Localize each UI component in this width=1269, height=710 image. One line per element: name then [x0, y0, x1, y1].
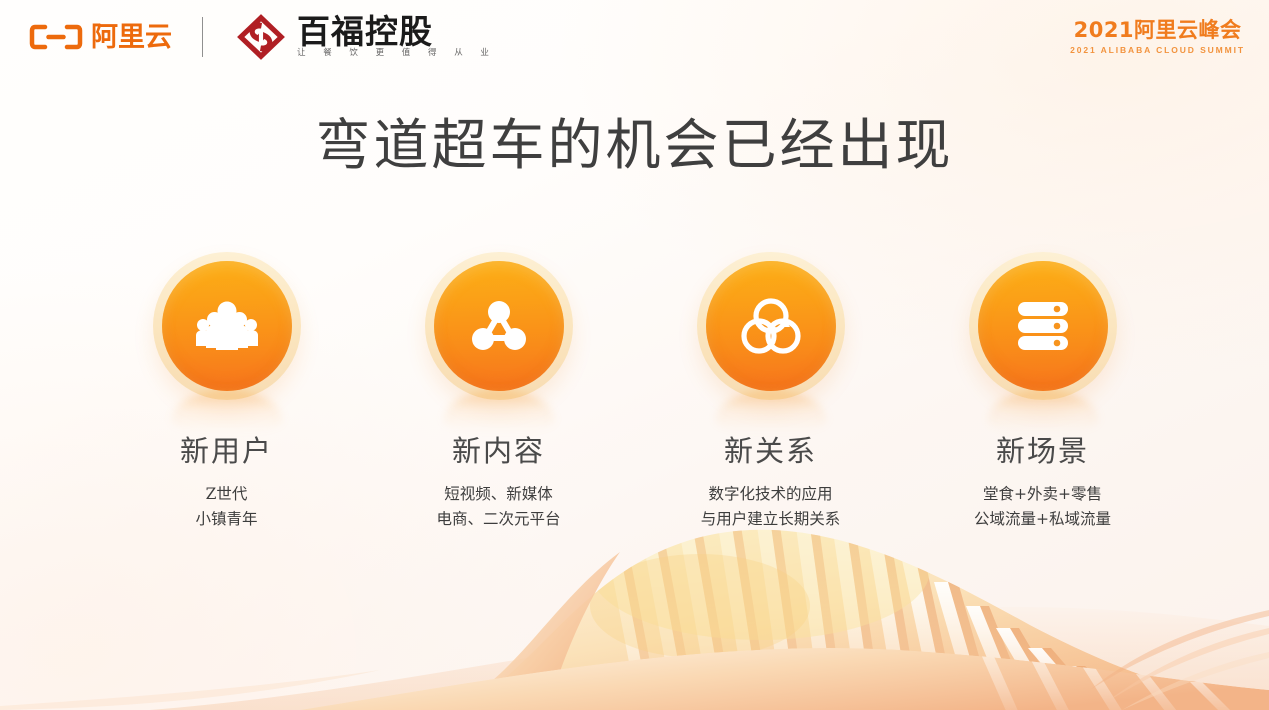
page-title: 弯道超车的机会已经出现 — [0, 114, 1269, 177]
badge-circle — [978, 261, 1108, 391]
pillar-description: 短视频、新媒体 电商、二次元平台 — [436, 482, 560, 532]
partner-logo: 百福控股 让 餐 饮 更 值 得 从 业 — [235, 13, 496, 61]
pillar-new-scenario: 新场景 堂食+外卖+零售 公域流量+私域流量 — [938, 252, 1148, 532]
pillar-desc-line: 小镇青年 — [195, 507, 257, 532]
pillar-new-relationship: 新关系 数字化技术的应用 与用户建立长期关系 — [666, 252, 876, 532]
share-network-icon — [470, 300, 528, 352]
logo-group: 阿里云 百福控股 让 餐 — [28, 13, 496, 61]
partner-name: 百福控股 — [297, 15, 496, 48]
pillar-desc-line: 短视频、新媒体 — [436, 482, 560, 507]
interlocking-circles-cycle-icon — [740, 297, 802, 355]
pillar-new-content: 新内容 短视频、新媒体 电商、二次元平台 — [394, 252, 604, 532]
partner-wordmark-block: 百福控股 让 餐 饮 更 值 得 从 业 — [297, 15, 496, 58]
server-stack-icon — [1014, 299, 1072, 353]
pillar-description: 堂食+外卖+零售 公域流量+私域流量 — [974, 482, 1111, 532]
badge-circle — [162, 261, 292, 391]
logo-divider — [202, 17, 203, 57]
pillar-description: Z世代 小镇青年 — [195, 482, 257, 532]
badge-wrap — [969, 252, 1117, 400]
pillar-row: 新用户 Z世代 小镇青年 — [0, 252, 1269, 532]
alibaba-cloud-logo: 阿里云 — [28, 22, 172, 52]
alibaba-cloud-wordmark: 阿里云 — [91, 24, 172, 51]
pillar-heading: 新用户 — [180, 436, 273, 468]
badge-circle — [706, 261, 836, 391]
pillar-desc-line: 与用户建立长期关系 — [701, 507, 841, 532]
badge-wrap — [697, 252, 845, 400]
pillar-desc-line: 公域流量+私域流量 — [974, 507, 1111, 532]
pillar-desc-line: 电商、二次元平台 — [436, 507, 560, 532]
badge-wrap — [153, 252, 301, 400]
pillar-heading: 新内容 — [452, 436, 545, 468]
badge-wrap — [425, 252, 573, 400]
pillar-new-users: 新用户 Z世代 小镇青年 — [122, 252, 332, 532]
pillar-desc-line: 数字化技术的应用 — [701, 482, 841, 507]
presentation-slide: 阿里云 百福控股 让 餐 — [0, 0, 1269, 710]
pillar-heading: 新场景 — [996, 436, 1089, 468]
alibaba-cloud-bracket-mark — [28, 22, 84, 52]
pillar-description: 数字化技术的应用 与用户建立长期关系 — [701, 482, 841, 532]
summit-badge: 2021阿里云峰会 2021 ALIBABA CLOUD SUMMIT — [1070, 20, 1245, 55]
pillar-heading: 新关系 — [724, 436, 817, 468]
summit-title-cn: 2021阿里云峰会 — [1070, 20, 1245, 41]
partner-tagline: 让 餐 饮 更 值 得 从 业 — [297, 49, 496, 58]
pillar-desc-line: Z世代 — [195, 482, 257, 507]
users-group-icon — [195, 300, 259, 352]
slide-header: 阿里云 百福控股 让 餐 — [0, 0, 1269, 74]
pillar-desc-line: 堂食+外卖+零售 — [974, 482, 1111, 507]
summit-title-en: 2021 ALIBABA CLOUD SUMMIT — [1070, 46, 1245, 55]
baifu-holdings-diamond-mark — [235, 13, 287, 61]
badge-circle — [434, 261, 564, 391]
